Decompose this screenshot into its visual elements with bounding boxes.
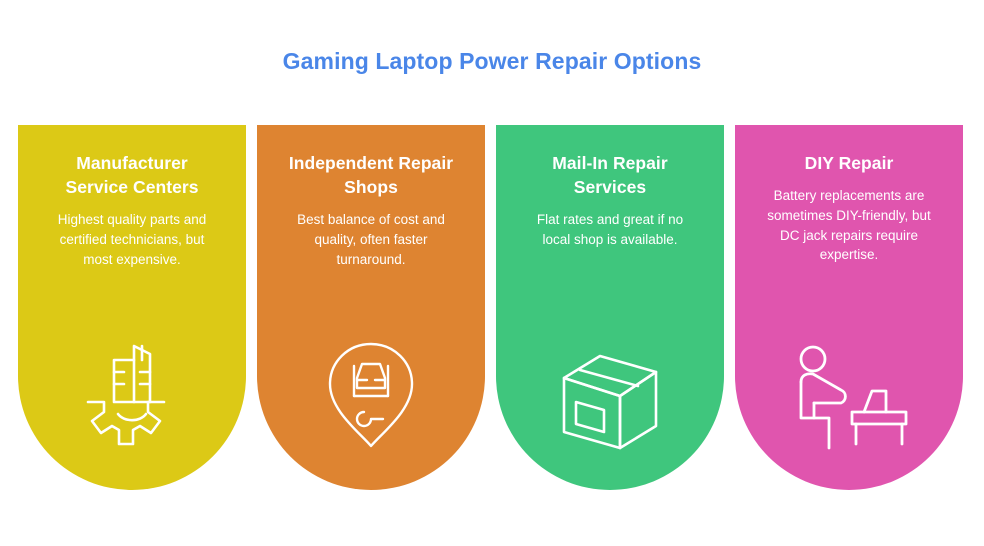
card-diy-repair[interactable]: DIY Repair Battery replacements are some… (735, 125, 963, 490)
card-independent-repair-shops[interactable]: Independent Repair Shops Best balance of… (257, 125, 485, 490)
map-pin-auto-repair-icon (257, 336, 485, 454)
card-title: Independent Repair Shops (284, 151, 459, 199)
infographic-page: Gaming Laptop Power Repair Options Manuf… (0, 0, 984, 546)
card-mail-in-repair-services[interactable]: Mail-In Repair Services Flat rates and g… (496, 125, 724, 490)
factory-gear-icon (18, 334, 246, 454)
card-title: Mail-In Repair Services (523, 151, 698, 199)
card-description: Best balance of cost and quality, often … (287, 210, 455, 269)
person-at-desk-laptop-icon (735, 344, 963, 454)
cards-row: Manufacturer Service Centers Highest qua… (18, 125, 966, 490)
card-title: DIY Repair (805, 151, 894, 175)
page-title: Gaming Laptop Power Repair Options (0, 48, 984, 75)
shipping-box-icon (496, 350, 724, 454)
card-title: Manufacturer Service Centers (45, 151, 220, 199)
card-description: Flat rates and great if no local shop is… (526, 210, 694, 249)
card-description: Battery replacements are sometimes DIY-f… (765, 186, 933, 265)
card-manufacturer-service-centers[interactable]: Manufacturer Service Centers Highest qua… (18, 125, 246, 490)
card-description: Highest quality parts and certified tech… (48, 210, 216, 269)
